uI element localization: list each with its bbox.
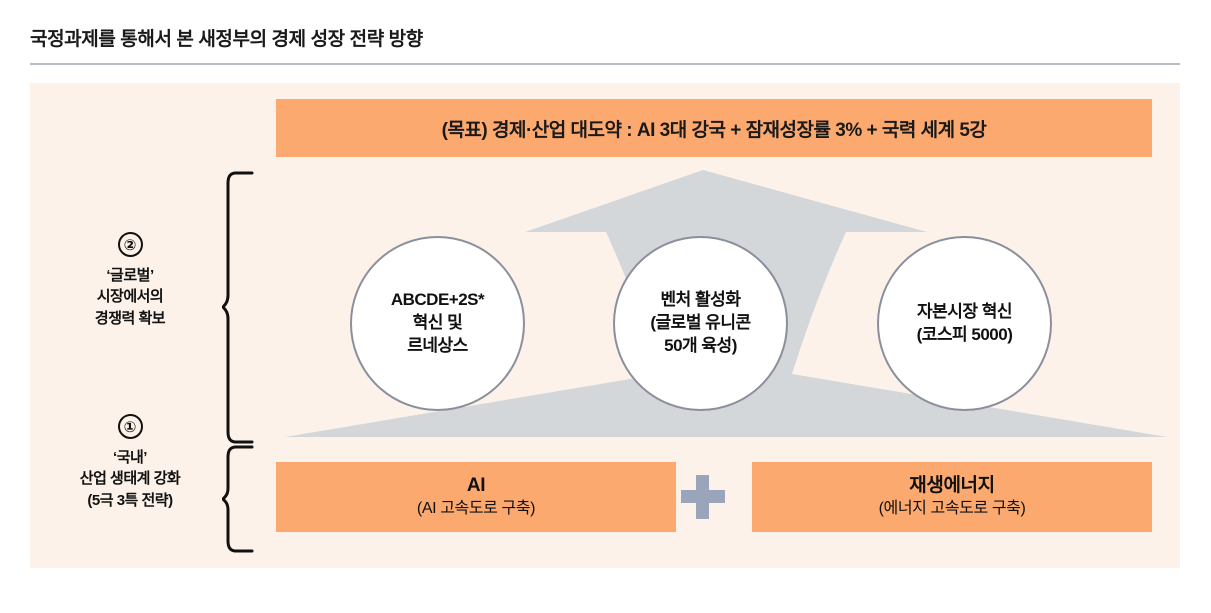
title-divider [30,63,1180,65]
page-title: 국정과제를 통해서 본 새정부의 경제 성장 전략 방향 [30,24,423,51]
legend-number-1: ① [118,414,143,439]
circle-line: 르네상스 [407,335,468,358]
legend-line: 시장에서의 [97,288,164,305]
diagram-page: 국정과제를 통해서 본 새정부의 경제 성장 전략 방향 (목표) 경제·산업 … [0,0,1211,613]
circle-line: 벤처 활성화 [661,289,741,312]
circle-line: ABCDE+2S* [391,289,484,312]
goal-banner-text: (목표) 경제·산업 대도약 : AI 3대 강국 + 잠재성장률 3% + 국… [442,115,987,142]
pillar-renewable-energy: 재생에너지 (에너지 고속도로 구축) [752,462,1152,532]
circle-line: 50개 육성) [664,335,737,358]
pillar-subtitle: (AI 고속도로 구축) [417,499,535,519]
legend-line: ‘글로벌’ [106,267,153,284]
strategy-circle-capital-market: 자본시장 혁신 (코스피 5000) [877,236,1052,411]
strategy-circle-venture: 벤처 활성화 (글로벌 유니콘 50개 육성) [613,236,788,411]
legend-item-global: ② ‘글로벌’ 시장에서의 경쟁력 확보 [35,232,225,329]
pillar-ai: AI (AI 고속도로 구축) [276,462,676,532]
legend-item-domestic: ① ‘국내’ 산업 생태계 강화 (5극 3특 전략) [35,414,225,511]
brace-global [222,170,256,445]
strategy-circle-abcde: ABCDE+2S* 혁신 및 르네상스 [350,236,525,411]
pillar-title: AI [467,475,485,497]
circle-line: (글로벌 유니콘 [650,312,750,335]
legend-line: 산업 생태계 강화 [80,470,180,487]
legend-number-2: ② [118,232,143,257]
circle-line: 혁신 및 [413,312,463,335]
legend-line: (5극 3특 전략) [87,492,172,509]
circle-line: 자본시장 혁신 [917,301,1012,324]
plus-icon-vertical-bar [696,475,709,519]
plus-icon [681,475,725,519]
circle-line: (코스피 5000) [917,324,1013,347]
legend-line: 경쟁력 확보 [95,310,165,327]
pillar-title: 재생에너지 [909,475,994,497]
brace-domestic [222,444,256,554]
pillar-subtitle: (에너지 고속도로 구축) [879,499,1026,519]
goal-banner: (목표) 경제·산업 대도약 : AI 3대 강국 + 잠재성장률 3% + 국… [276,99,1152,157]
legend-line: ‘국내’ [113,449,147,466]
